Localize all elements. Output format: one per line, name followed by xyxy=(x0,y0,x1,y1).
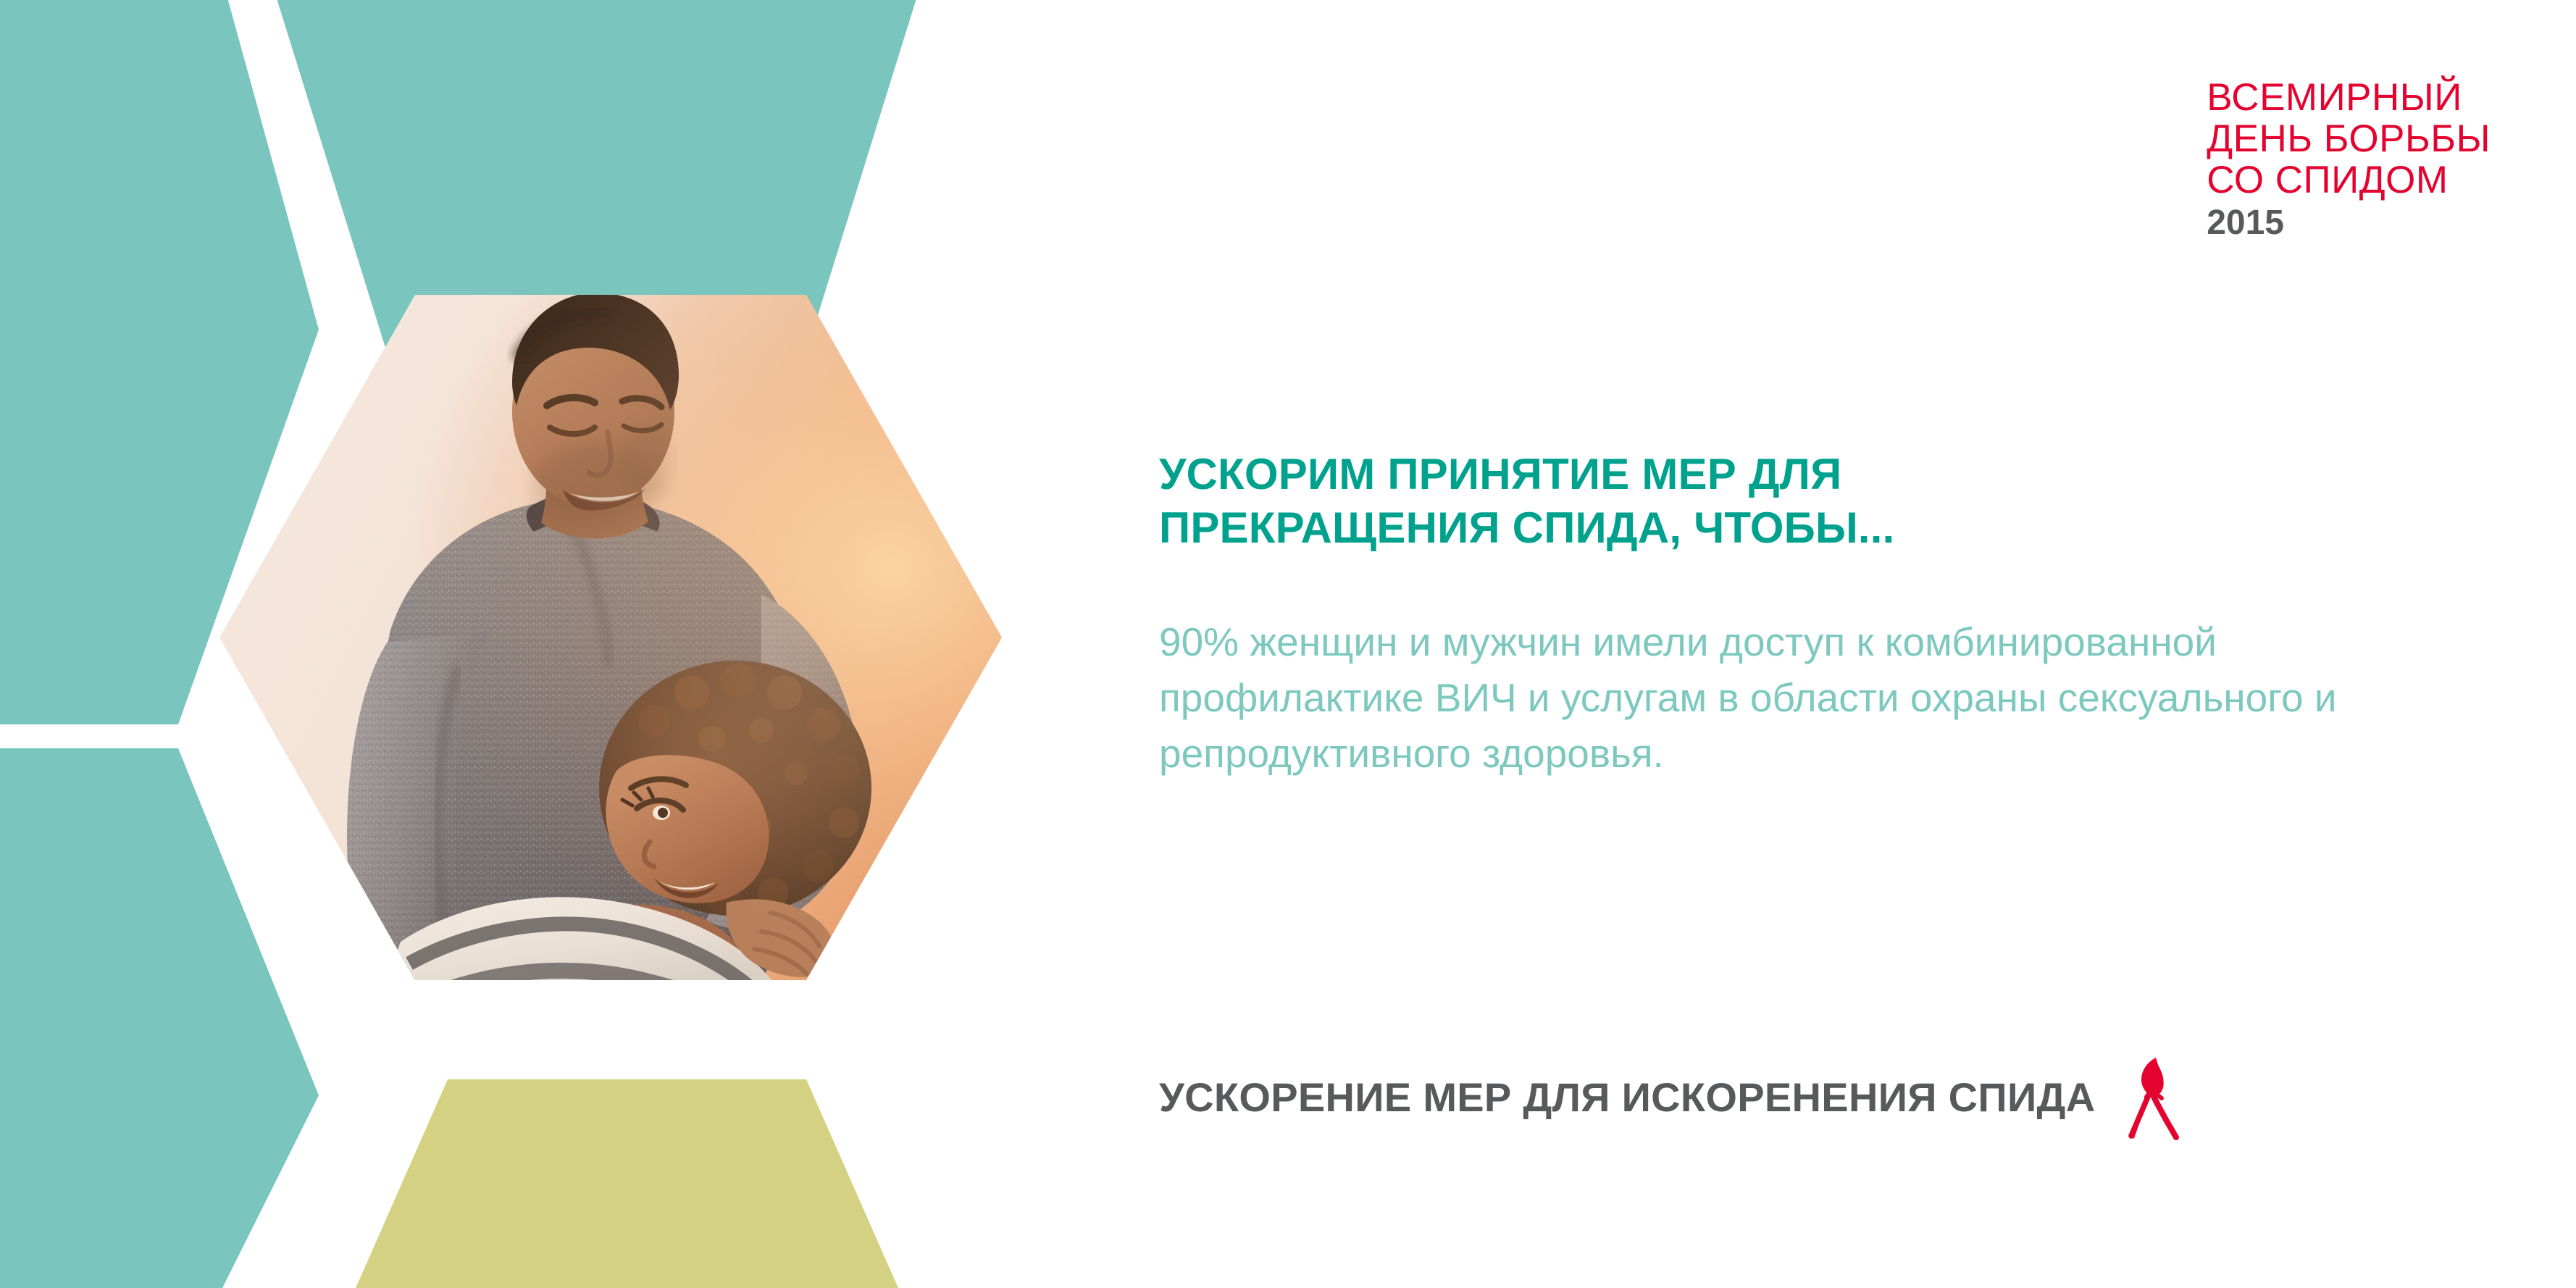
logo-line-2: ДЕНЬ БОРЬБЫ xyxy=(2207,120,2491,158)
tagline-row: УСКОРЕНИЕ МЕР ДЛЯ ИСКОРЕНЕНИЯ СПИДА xyxy=(1159,1052,2182,1142)
photo-couple-illustration xyxy=(219,290,1002,985)
logo-line-1: ВСЕМИРНЫЙ xyxy=(2207,78,2491,117)
hexagon-photo-couple xyxy=(219,290,1002,985)
poster-canvas: ВСЕМИРНЫЙ ДЕНЬ БОРЬБЫ СО СПИДОМ 2015 УСК… xyxy=(0,0,2576,1288)
logo-line-3: СО СПИДОМ xyxy=(2207,161,2491,199)
aids-ribbon-icon xyxy=(2127,1052,2182,1142)
page-title: УСКОРИМ ПРИНЯТИЕ МЕР ДЛЯ ПРЕКРАЩЕНИЯ СПИ… xyxy=(1159,448,2014,555)
hexagon-olive-bottom-center xyxy=(307,1079,947,1288)
body-paragraph: 90% женщин и мужчин имели доступ к комби… xyxy=(1159,614,2354,782)
logo-year: 2015 xyxy=(2207,206,2491,241)
world-aids-day-logo: ВСЕМИРНЫЙ ДЕНЬ БОРЬБЫ СО СПИДОМ 2015 xyxy=(2207,78,2491,241)
content-column: УСКОРИМ ПРИНЯТИЕ МЕР ДЛЯ ПРЕКРАЩЕНИЯ СПИ… xyxy=(1159,448,2383,782)
campaign-tagline: УСКОРЕНИЕ МЕР ДЛЯ ИСКОРЕНЕНИЯ СПИДА xyxy=(1159,1074,2095,1121)
